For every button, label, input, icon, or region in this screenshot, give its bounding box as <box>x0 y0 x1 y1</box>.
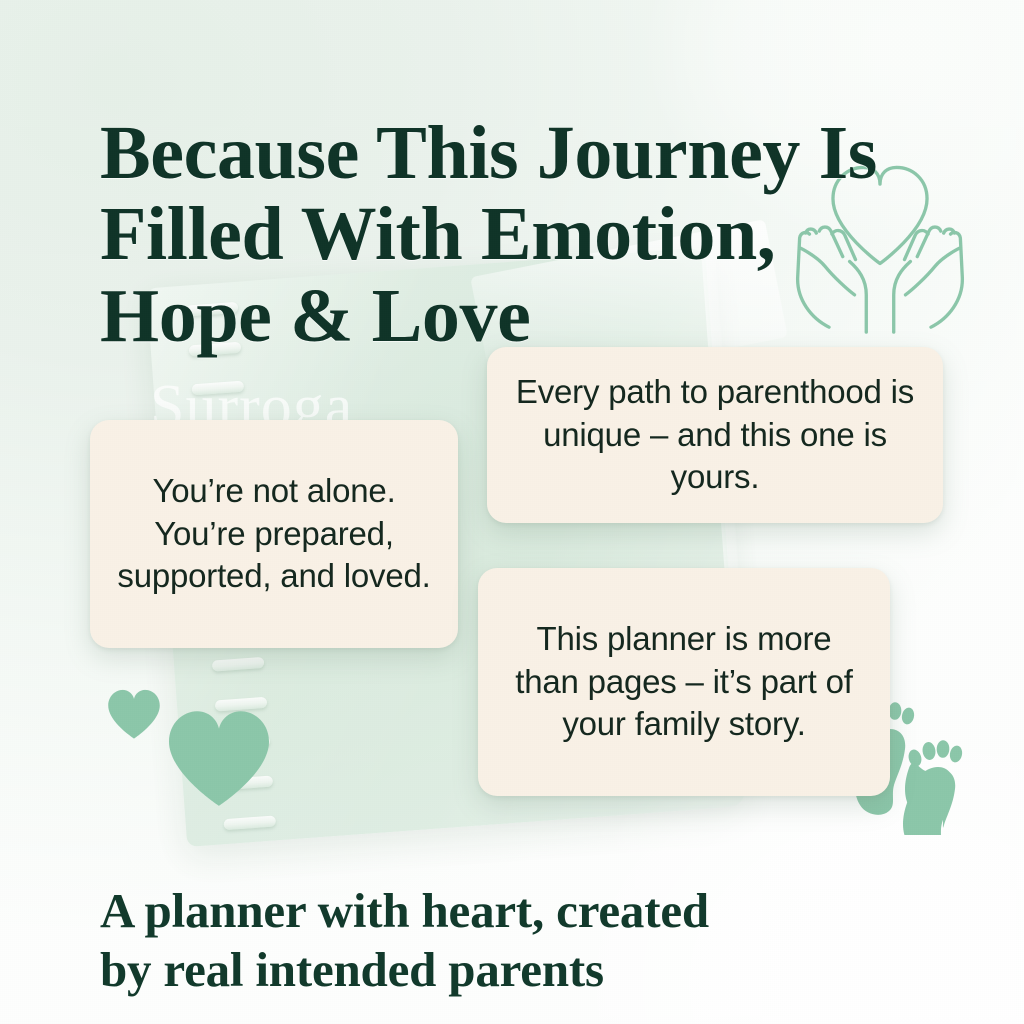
tagline-line-2: by real intended parents <box>100 940 920 1000</box>
headline-line-1: Because This Journey Is <box>100 113 890 194</box>
page-headline: Because This Journey Is Filled With Emot… <box>100 113 890 357</box>
quote-card-unique-path: Every path to parenthood is unique – and… <box>487 347 943 523</box>
heart-icon-large <box>164 708 274 808</box>
page-tagline: A planner with heart, created by real in… <box>100 881 920 1001</box>
spiral-ring <box>223 815 276 830</box>
headline-line-2: Filled With Emotion, <box>100 194 890 275</box>
quote-card-family-story-text: This planner is more than pages – it’s p… <box>504 618 864 747</box>
quote-card-unique-path-text: Every path to parenthood is unique – and… <box>509 371 921 500</box>
tagline-line-1: A planner with heart, created <box>100 881 920 941</box>
quote-card-family-story: This planner is more than pages – it’s p… <box>478 568 890 796</box>
heart-icon-small <box>106 688 162 740</box>
headline-line-3: Hope & Love <box>100 276 890 357</box>
promo-graphic-canvas: Surroga A SUIDE FOR INTER Postners Ward … <box>0 0 1024 1024</box>
quote-card-reassurance-text: You’re not alone. You’re prepared, suppo… <box>116 470 432 599</box>
quote-card-reassurance: You’re not alone. You’re prepared, suppo… <box>90 420 458 648</box>
spiral-ring <box>212 657 265 672</box>
